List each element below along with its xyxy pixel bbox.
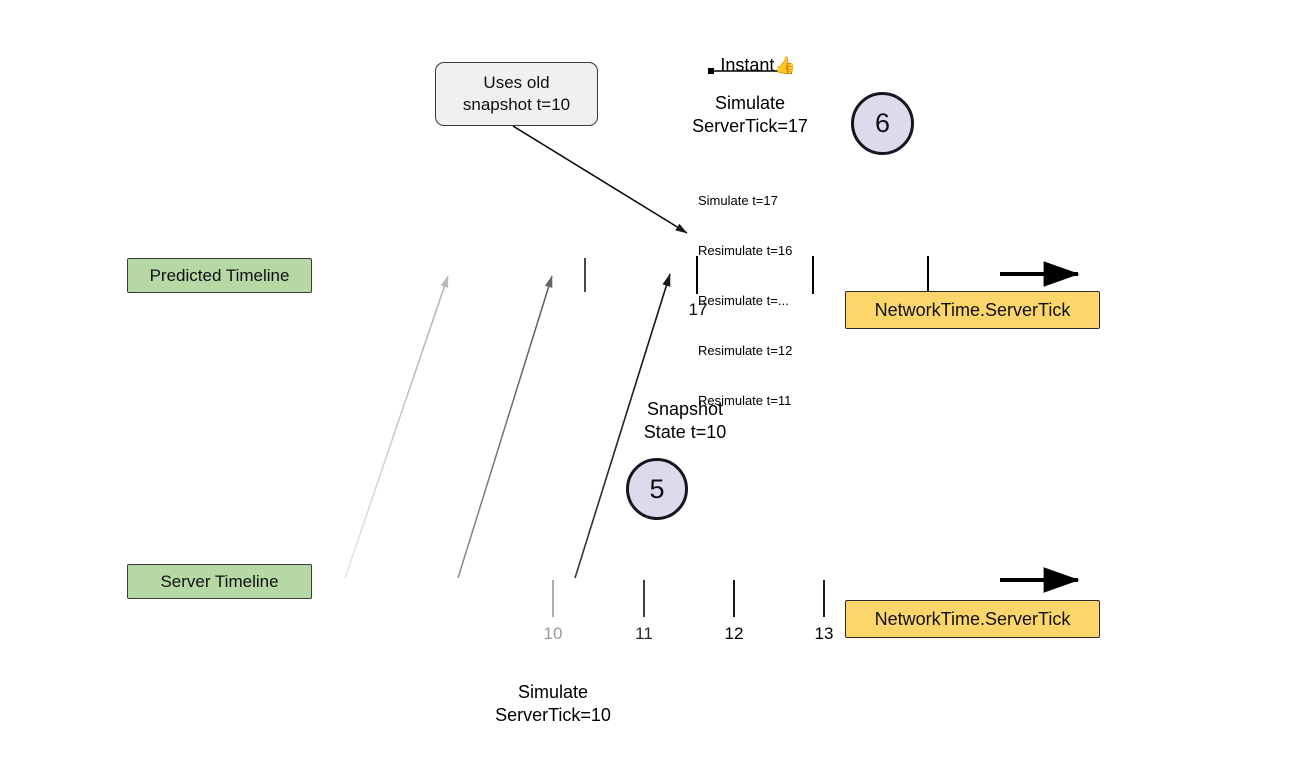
- server-tick-label-12: 12: [725, 624, 744, 644]
- step-circle-6-value: 6: [875, 108, 890, 139]
- predicted-networktime-label: NetworkTime.ServerTick: [875, 300, 1071, 321]
- predicted-timeline-label-box: Predicted Timeline: [127, 258, 312, 293]
- server-timeline-label-box: Server Timeline: [127, 564, 312, 599]
- server-timeline-label: Server Timeline: [160, 572, 278, 592]
- predicted-timeline-label: Predicted Timeline: [150, 266, 290, 286]
- server-tick-label-10: 10: [544, 624, 563, 644]
- server-to-predicted-connectors: [345, 274, 670, 578]
- predicted-networktime-box: NetworkTime.ServerTick: [845, 291, 1100, 329]
- instant-caption: Instant👍: [700, 34, 795, 97]
- instant-label: Instant: [720, 55, 774, 75]
- server-networktime-box: NetworkTime.ServerTick: [845, 600, 1100, 638]
- simulate-servertick-10-caption: Simulate ServerTick=10: [495, 681, 611, 728]
- step-circle-5-value: 5: [649, 474, 664, 505]
- uses-old-snapshot-note: Uses old snapshot t=10: [435, 62, 598, 126]
- server-tick-label-11: 11: [635, 624, 653, 644]
- thumbs-up-icon: 👍: [774, 56, 795, 75]
- diagram-vector-layer: [0, 0, 1313, 782]
- step-circle-6: 6: [851, 92, 914, 155]
- step-circle-5: 5: [626, 458, 688, 520]
- resimulate-list-item: Resimulate t=16: [698, 243, 792, 260]
- resimulate-list-item: Simulate t=17: [698, 193, 792, 210]
- resimulate-list-item: Resimulate t=12: [698, 343, 792, 360]
- note-line-1: Uses old: [483, 72, 549, 94]
- predicted-tick-label-17: 17: [689, 300, 708, 320]
- simulate-servertick-17-caption: Simulate ServerTick=17: [692, 92, 808, 139]
- server-networktime-label: NetworkTime.ServerTick: [875, 609, 1071, 630]
- resimulate-list-item: Resimulate t=...: [698, 293, 792, 310]
- diagram-canvas: Predicted Timeline Server Timeline Netwo…: [0, 0, 1313, 782]
- note-callout-arrow: [513, 126, 687, 233]
- note-line-2: snapshot t=10: [463, 94, 570, 116]
- snapshot-state-caption: Snapshot State t=10: [644, 398, 727, 445]
- server-tick-label-13: 13: [815, 624, 834, 644]
